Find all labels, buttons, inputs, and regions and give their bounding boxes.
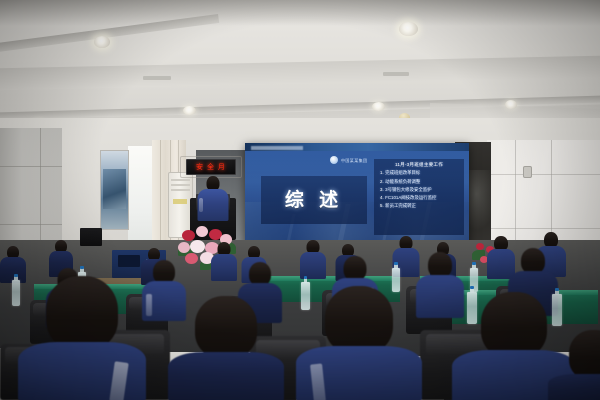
list-item-number: 2. [380,179,384,184]
flower-pink-5 [185,253,198,264]
list-item-number: 5. [380,203,384,208]
person-body [548,374,600,400]
person-body [300,252,326,279]
ceiling-band-1 [0,56,600,91]
meeting-room-screenshot: 安 全 月 中国某某集团 综 述 11月-3月班组主要工作 1.完成班组改革目标… [0,0,600,400]
downlight-2 [399,22,418,36]
pillar-seam-3 [0,224,62,225]
slide-logo: 中国某某集团 [330,156,367,164]
poster-image [103,169,126,209]
list-item-number: 4. [380,195,384,200]
list-item-text: 完成班组改革目标 [385,170,420,175]
ceiling-shadow [0,0,600,26]
audience-person-foreground [548,330,600,400]
right-wall-line-1 [487,174,600,175]
presenter-uniform-stripe [199,198,203,212]
bottle-cap [80,266,84,269]
person-head [46,276,118,350]
ceiling-vent-right [383,72,409,76]
list-item: 5.新员工完成转正 [380,203,461,209]
person-body [168,352,284,400]
person-head [325,286,393,354]
console-screen [118,255,140,267]
page-title: 综 述 [285,191,343,210]
ac-grill-3 [171,189,190,191]
list-item: 4.FC101A阀技改及运行监控 [380,195,461,201]
led-sign-text: 安 全 月 [196,164,226,171]
bottle-cap [470,286,474,289]
person-body [211,254,237,281]
audience-person-foreground [296,286,422,400]
person-head [569,330,600,380]
bottle-cap [394,262,398,265]
wall-sensor-icon [523,166,532,178]
right-wall-line-2 [487,228,600,229]
bottle-cap [555,288,559,291]
ceiling-vent-left [143,76,171,80]
list-item: 2.动能系统负荷调整 [380,179,461,185]
audience-person [300,240,326,278]
presenter [196,176,230,220]
wall-poster [100,150,129,230]
company-logo-icon [330,156,338,164]
flower-red-1 [182,230,195,241]
ac-label [173,199,187,204]
list-item-text: FC101A阀技改及运行监控 [385,195,436,200]
downlight-9 [505,100,517,109]
pillar-seam-2 [0,166,62,167]
audience-person-foreground [168,296,284,400]
flower-white-1 [190,240,205,253]
list-item-number: 3. [380,187,384,192]
bottle-cap [472,262,476,265]
audience-person-foreground [18,276,146,400]
list-item-text: 3号钢包大修及安全监护 [385,187,431,192]
list-item: 1.完成班组改革目标 [380,170,461,176]
slide-title-plate: 综 述 [261,176,367,224]
list-item-number: 1. [380,170,384,175]
downlight-3 [183,106,196,115]
ac-grill-1 [171,179,190,181]
audience-person [211,242,237,280]
downlight-6 [372,102,385,111]
downlight-1 [94,36,110,48]
bottle-cap [304,276,308,279]
slide-list-plate: 11月-3月班组主要工作 1.完成班组改革目标 2.动能系统负荷调整 3.3号钢… [374,159,464,235]
slide-logo-text: 中国某某集团 [341,158,367,163]
flower-red-r1 [476,243,484,250]
projection-screen: 中国某某集团 综 述 11月-3月班组主要工作 1.完成班组改革目标 2.动能系… [245,143,469,248]
uniform-stripe [146,294,152,316]
flower-pink-3 [178,242,190,253]
slide-list-heading: 11月-3月班组主要工作 [377,162,461,168]
list-item-text: 动能系统负荷调整 [385,179,420,184]
ac-grill-2 [171,184,190,186]
list-item: 3.3号钢包大修及安全监护 [380,187,461,193]
led-display-sign: 安 全 月 [186,159,236,175]
monitor [80,228,102,246]
flower-pink-1 [196,226,208,237]
list-item-text: 新员工完成转正 [385,203,416,208]
person-head [481,292,547,358]
person-head [195,296,257,358]
